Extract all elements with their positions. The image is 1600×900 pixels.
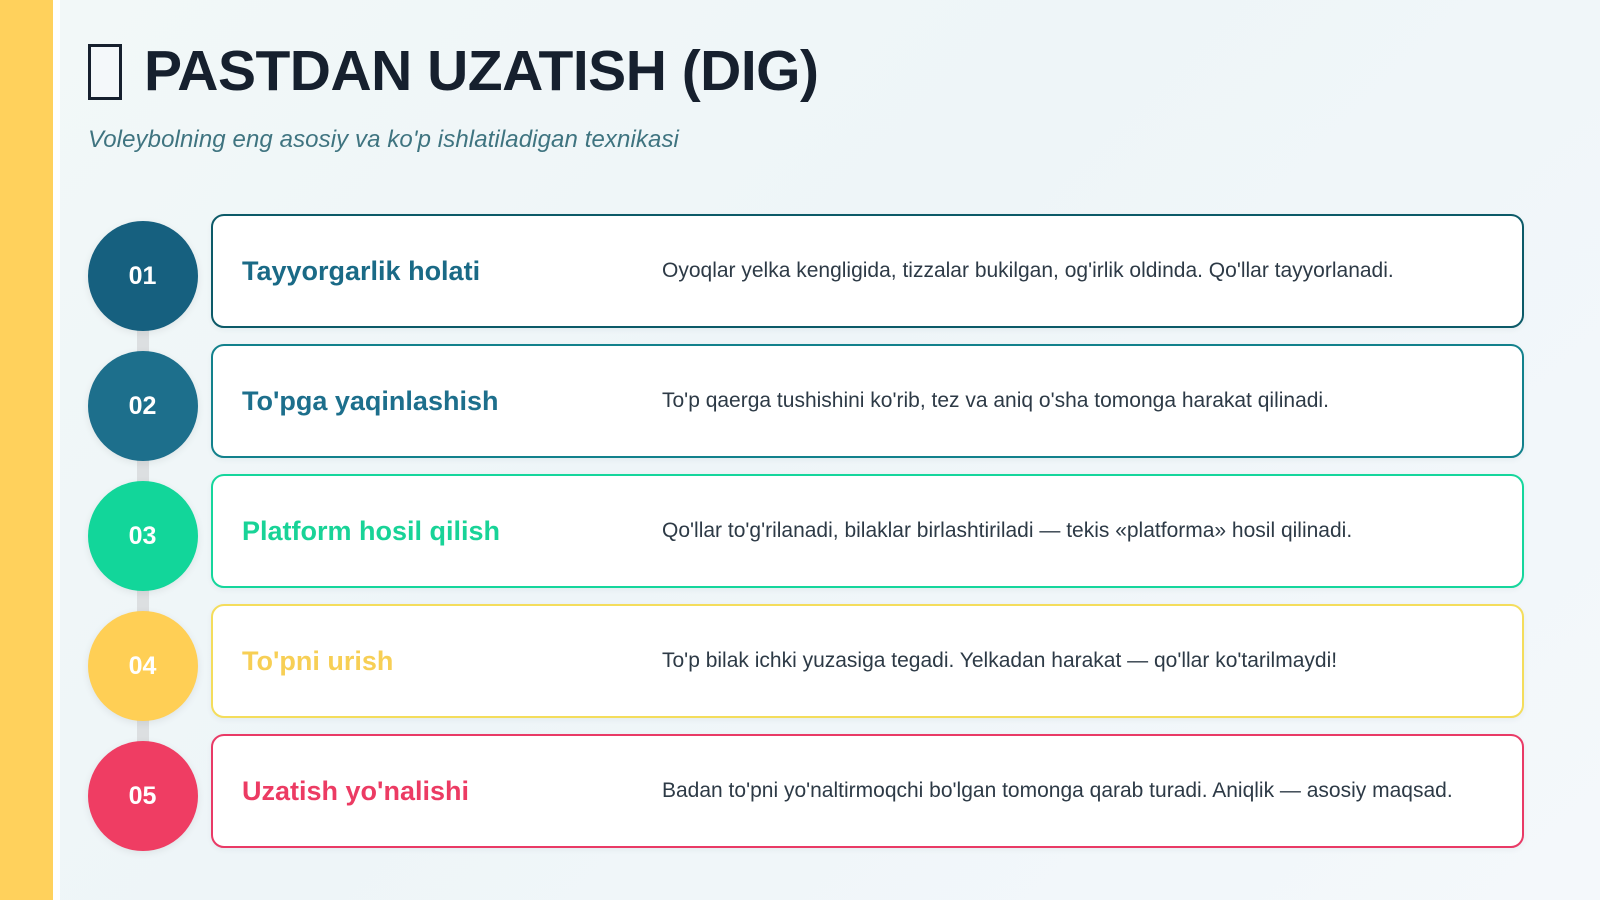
- slide-root: PASTDAN UZATISH (DIG) Voleybolning eng a…: [0, 0, 1600, 900]
- step-number-badge[interactable]: 01: [88, 221, 198, 331]
- step-card-title: Platform hosil qilish: [242, 515, 662, 547]
- step-row: 02To'pga yaqinlashishTo'p qaerga tushish…: [74, 344, 1524, 474]
- step-number-badge[interactable]: 04: [88, 611, 198, 721]
- title-row: PASTDAN UZATISH (DIG): [88, 42, 1518, 102]
- step-number-badge[interactable]: 05: [88, 741, 198, 851]
- step-card[interactable]: Uzatish yo'nalishiBadan to'pni yo'naltir…: [211, 734, 1524, 848]
- step-row: 01Tayyorgarlik holatiOyoqlar yelka kengl…: [74, 214, 1524, 344]
- step-badge-column: 01: [74, 214, 211, 331]
- step-badge-column: 04: [74, 604, 211, 721]
- step-card-title: Tayyorgarlik holati: [242, 255, 662, 287]
- volleyball-icon: [88, 44, 122, 100]
- step-badge-column: 03: [74, 474, 211, 591]
- step-card-description: Oyoqlar yelka kengligida, tizzalar bukil…: [662, 255, 1522, 287]
- stripe-gap-divider: [53, 0, 60, 900]
- step-card-description: To'p bilak ichki yuzasiga tegadi. Yelkad…: [662, 645, 1522, 677]
- step-card[interactable]: Platform hosil qilishQo'llar to'g'rilana…: [211, 474, 1524, 588]
- step-number-badge[interactable]: 02: [88, 351, 198, 461]
- step-badge-column: 02: [74, 344, 211, 461]
- step-card-description: Badan to'pni yo'naltirmoqchi bo'lgan tom…: [662, 775, 1522, 807]
- step-badge-column: 05: [74, 734, 211, 851]
- left-accent-stripe: [0, 0, 53, 900]
- step-card-title: Uzatish yo'nalishi: [242, 775, 662, 807]
- step-number-badge[interactable]: 03: [88, 481, 198, 591]
- step-card-title: To'pni urish: [242, 645, 662, 677]
- steps-timeline: 01Tayyorgarlik holatiOyoqlar yelka kengl…: [74, 214, 1524, 864]
- step-card[interactable]: To'pga yaqinlashishTo'p qaerga tushishin…: [211, 344, 1524, 458]
- step-row: 05Uzatish yo'nalishiBadan to'pni yo'nalt…: [74, 734, 1524, 864]
- step-card-description: Qo'llar to'g'rilanadi, bilaklar birlasht…: [662, 515, 1522, 547]
- slide-header: PASTDAN UZATISH (DIG) Voleybolning eng a…: [88, 42, 1518, 154]
- page-title: PASTDAN UZATISH (DIG): [144, 42, 819, 102]
- step-card-title: To'pga yaqinlashish: [242, 385, 662, 417]
- page-subtitle: Voleybolning eng asosiy va ko'p ishlatil…: [88, 126, 1518, 154]
- step-card[interactable]: To'pni urishTo'p bilak ichki yuzasiga te…: [211, 604, 1524, 718]
- step-row: 03Platform hosil qilishQo'llar to'g'rila…: [74, 474, 1524, 604]
- step-card[interactable]: Tayyorgarlik holatiOyoqlar yelka kenglig…: [211, 214, 1524, 328]
- step-card-description: To'p qaerga tushishini ko'rib, tez va an…: [662, 385, 1522, 417]
- step-row: 04To'pni urishTo'p bilak ichki yuzasiga …: [74, 604, 1524, 734]
